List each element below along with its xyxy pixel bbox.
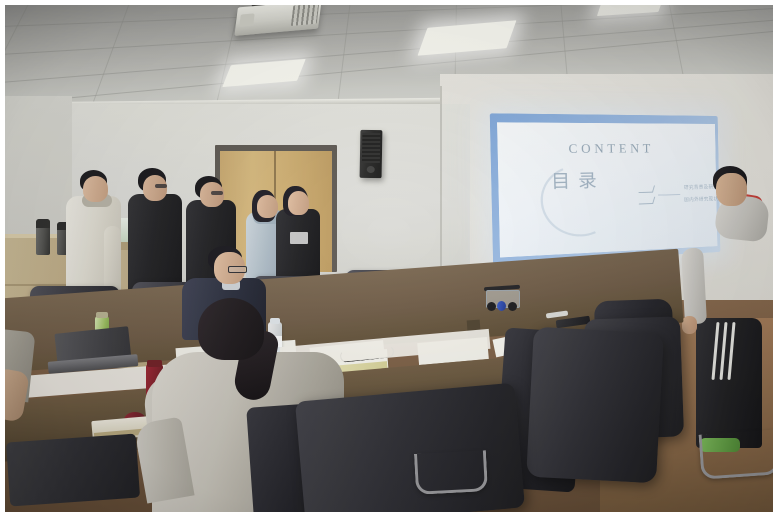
laptop-sleeve [6,434,140,507]
speaker-grill [362,133,381,163]
slide-border: CONTENT 目 录 研究背景及研究意义 国内外研究现状综述 [490,113,721,264]
robot-wheel [487,302,496,311]
face [716,173,747,206]
glasses-icon [211,191,223,195]
dark-thermos [291,306,305,338]
bottle-cap [270,318,280,324]
slide-chevron-icon [640,185,657,212]
robot-blue-part [497,301,506,311]
projector-vent [291,3,319,26]
face [83,176,108,202]
thermos-cap [147,360,162,367]
chair-armrest [699,429,778,479]
hoodie-graphic [290,232,308,244]
glasses-icon [228,266,247,273]
thermos-flask [36,219,50,255]
black-coat [128,194,182,294]
slide-divider [658,194,680,196]
bottle-cap [96,312,108,318]
projection-screen: CONTENT 目 录 研究背景及研究意义 国内外研究现状综述 [490,113,721,264]
face [143,175,167,201]
hand [682,316,697,334]
glasses-icon [155,184,167,188]
small-robot [484,284,520,312]
arm [681,247,707,324]
speaker-driver [367,166,375,173]
face [288,191,309,215]
conference-room-photograph: CONTENT 目 录 研究背景及研究意义 国内外研究现状综述 [0,0,778,517]
face [257,195,278,218]
hair [198,298,264,360]
projector-lens [239,13,254,26]
chair-armrest [414,450,488,495]
office-chair [526,327,664,484]
slide-decor-arc [530,154,627,246]
slide-surface: CONTENT 目 录 研究背景及研究意义 国内外研究现状综述 [497,122,717,257]
slide-subtitle-cn: 目 录 [551,172,598,193]
track-pants [696,318,762,448]
office-chair [295,383,525,517]
slide-title: CONTENT [497,141,715,158]
robot-wheel [508,302,517,311]
speaker-icon [360,130,383,178]
arm [104,226,121,292]
